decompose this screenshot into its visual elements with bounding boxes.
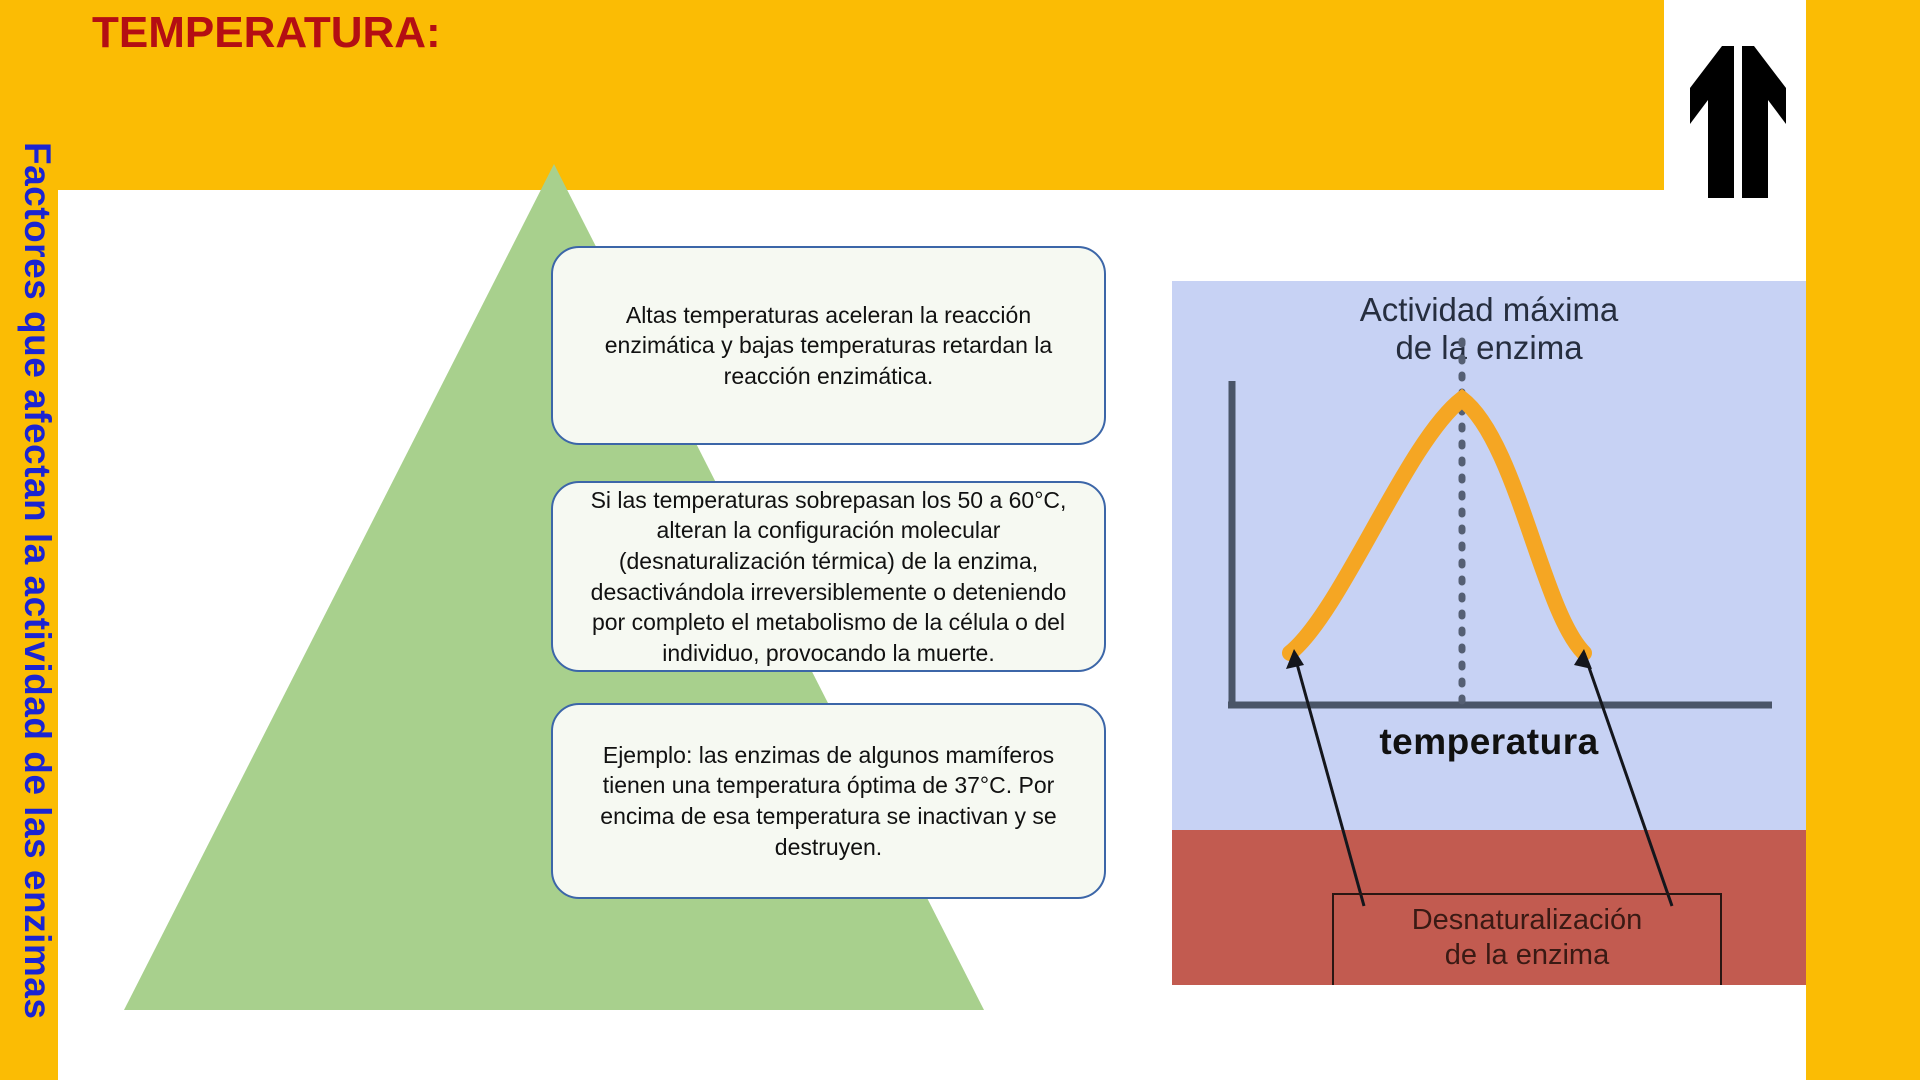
info-box-2-text: Si las temperaturas sobrepasan los 50 a … [579,485,1078,668]
enzyme-activity-chart: Actividad máxima de la enzima temperatur… [1172,281,1806,985]
right-yellow-band [1806,0,1920,1080]
page-title: TEMPERATURA: [92,8,441,58]
double-up-arrow-icon [1678,38,1798,198]
denaturation-annotation-line-2: de la enzima [1334,938,1720,973]
info-box-1: Altas temperaturas aceleran la reacción … [551,246,1106,445]
info-box-3-text: Ejemplo: las enzimas de algunos mamífero… [579,740,1078,862]
slide-root: TEMPERATURA: Factores que afectan la act… [0,0,1920,1080]
info-box-1-text: Altas temperaturas aceleran la reacción … [579,300,1078,392]
denaturation-annotation: Desnaturalización de la enzima [1332,893,1722,985]
info-box-3: Ejemplo: las enzimas de algunos mamífero… [551,703,1106,899]
chart-x-axis-label: temperatura [1172,721,1806,763]
denaturation-annotation-line-1: Desnaturalización [1334,903,1720,938]
info-box-2: Si las temperaturas sobrepasan los 50 a … [551,481,1106,672]
section-side-title: Factores que afectan la actividad de las… [16,142,58,1019]
side-title-container: Factores que afectan la actividad de las… [0,130,80,1080]
